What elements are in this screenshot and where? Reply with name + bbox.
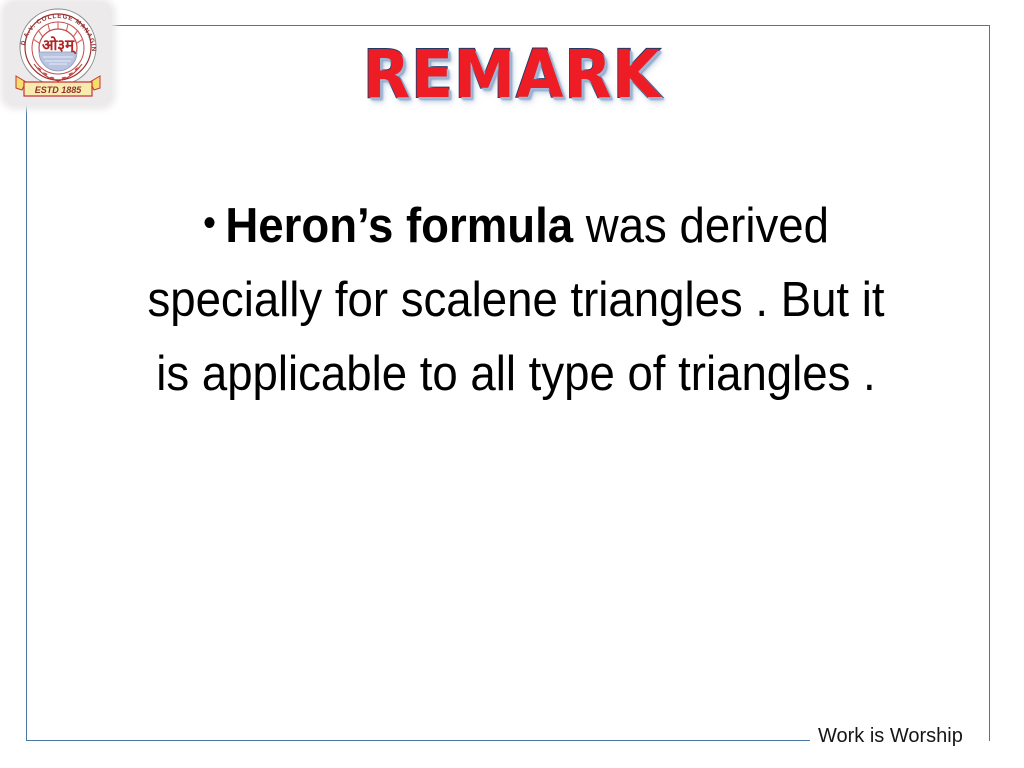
body-line-5: triangles . [678,347,876,401]
body-emphasis: Heron’s formula [225,199,573,253]
slide-title: REMARK [36,42,988,108]
bullet-icon: • [203,201,225,245]
body-line-2: specially for scalene [147,273,557,327]
slide-body: •Heron’s formula was derived specially f… [125,186,906,411]
frame-line-left [26,25,27,741]
body-line-4: applicable to all type of [202,347,666,401]
footer-tagline: Work is Worship [818,725,963,748]
frame-line-top [26,25,990,26]
body-line-1: was derived [573,199,829,253]
frame-line-right [989,25,990,741]
frame-line-bottom [26,740,810,741]
slide-canvas: D.A.V. COLLEGE MANAGING COMMITTEE [0,0,1024,768]
